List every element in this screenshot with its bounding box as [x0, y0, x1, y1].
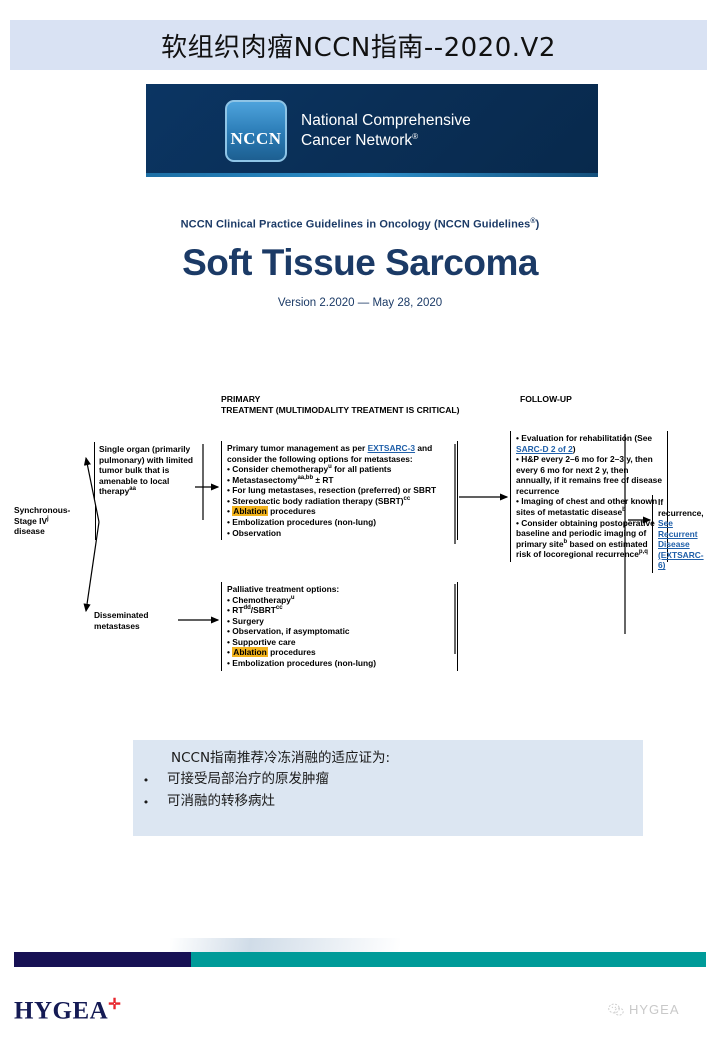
- box-palliative-treatment: Palliative treatment options: • Chemothe…: [221, 582, 458, 671]
- primary-bullet-text: Metastasectomy: [232, 475, 297, 485]
- nccn-banner-text: National Comprehensive Cancer Network®: [301, 111, 471, 150]
- followup-bullet-text: Evaluation for rehabilitation (See: [521, 433, 652, 443]
- footer-color-bar: [14, 952, 706, 967]
- recurrence-lead: If recurrence,: [658, 497, 709, 518]
- primary-bullet-text: Observation: [232, 528, 281, 538]
- brand-logo-hygea: HYGEA✛: [14, 995, 121, 1025]
- stage-line2: Stage IV: [14, 516, 47, 526]
- palliative-bullet-text: RT: [232, 605, 243, 615]
- highlight-ablation: Ablation: [232, 506, 268, 516]
- nccn-logo-icon: NCCN: [225, 100, 287, 162]
- guideline-main-title: Soft Tissue Sarcoma: [0, 242, 720, 284]
- followup-bullet: • Consider obtaining postoperative basel…: [516, 518, 662, 560]
- note-item-text: 可接受局部治疗的原发肿瘤: [167, 773, 329, 787]
- primary-bullet: • Stereotactic body radiation therapy (S…: [227, 496, 452, 507]
- palliative-bullet: • Chemotherapyu: [227, 595, 452, 606]
- node-synchronous-stage-iv: Synchronous- Stage IVj disease: [14, 505, 92, 537]
- followup-bullet-post: ): [573, 444, 576, 454]
- primary-bullet: • Metastasectomyaa,bb ± RT: [227, 475, 452, 486]
- primary-bullet-ablation: • Ablation procedures: [227, 506, 452, 517]
- box-followup: • Evaluation for rehabilitation (See SAR…: [510, 431, 668, 562]
- footer-bar-navy-segment: [14, 952, 191, 967]
- palliative-bullet-text: Embolization procedures (non-lung): [232, 658, 376, 668]
- red-cross-icon: ✛: [108, 996, 121, 1013]
- palliative-bullet-sup: dd: [243, 605, 250, 611]
- note-item-text: 可消融的转移病灶: [167, 795, 275, 809]
- nccn-banner-line2-wrap: Cancer Network®: [301, 131, 471, 151]
- box-primary-treatment: Primary tumor management as per EXTSARC-…: [221, 441, 458, 540]
- stage-bracket: [95, 504, 96, 540]
- primary-bullet-text: Embolization procedures (non-lung): [232, 517, 376, 527]
- annotation-note-box: NCCN指南推荐冷冻消融的适应证为: • 可接受局部治疗的原发肿瘤 • 可消融的…: [133, 740, 643, 836]
- node-disseminated-metastases: Disseminated metastases: [94, 610, 186, 631]
- nccn-banner-line2: Cancer Network: [301, 132, 412, 149]
- highlight-ablation: Ablation: [232, 647, 268, 657]
- followup-bullet-post-sup: p,q: [639, 550, 648, 556]
- nccn-logo-banner: NCCN National Comprehensive Cancer Netwo…: [146, 84, 598, 177]
- single-organ-text: Single organ (primarily pulmonary) with …: [99, 444, 193, 496]
- followup-bullet: • Evaluation for rehabilitation (See SAR…: [516, 433, 662, 454]
- followup-bullet-text: H&P every 2–6 mo for 2–3 y, then every 6…: [516, 454, 662, 496]
- footer-smudge-artifact: [170, 938, 400, 952]
- palliative-bullet-ablation: • Ablation procedures: [227, 647, 452, 658]
- primary-bullet: • For lung metastases, resection (prefer…: [227, 485, 452, 496]
- guideline-version: Version 2.2020 — May 28, 2020: [0, 297, 720, 309]
- primary-bullet-text: Stereotactic body radiation therapy (SBR…: [232, 496, 403, 506]
- wechat-watermark-label: HYGEA: [629, 1002, 680, 1017]
- followup-bullet-sup: b: [622, 507, 626, 513]
- primary-bullet-tail: for all patients: [332, 464, 392, 474]
- palliative-bullet-text: Chemotherapy: [232, 595, 291, 605]
- nccn-banner-line1: National Comprehensive: [301, 111, 471, 131]
- kicker-prefix: NCCN Clinical Practice Guidelines in Onc…: [181, 219, 531, 231]
- palliative-bullet-text: Supportive care: [232, 637, 295, 647]
- primary-bullet-list: • Consider chemotherapyu for all patient…: [227, 464, 452, 538]
- guideline-kicker: NCCN Clinical Practice Guidelines in Onc…: [0, 218, 720, 231]
- primary-bullet-tail: procedures: [268, 506, 316, 516]
- brand-logo-text: HYGEA: [14, 997, 108, 1024]
- treatment-flowchart: PRIMARY TREATMENT (MULTIMODALITY TREATME…: [0, 392, 720, 682]
- link-recurrent-line-1[interactable]: See: [658, 518, 709, 529]
- primary-bullet: • Consider chemotherapyu for all patient…: [227, 464, 452, 475]
- palliative-bullet: • Surgery: [227, 616, 452, 627]
- palliative-bullet-text: Surgery: [232, 616, 264, 626]
- wechat-icon: [608, 1003, 624, 1017]
- slide-title-bar: 软组织肉瘤NCCN指南--2020.V2: [10, 20, 707, 70]
- link-sarc-d-2of2[interactable]: SARC-D 2 of 2: [516, 444, 573, 454]
- bullet-marker-icon: •: [133, 795, 159, 810]
- palliative-bullet-text: Observation, if asymptomatic: [232, 626, 349, 636]
- link-extsarc-3[interactable]: EXTSARC-3: [368, 443, 415, 453]
- primary-bullet: • Observation: [227, 528, 452, 539]
- note-list-item: • 可消融的转移病灶: [133, 795, 643, 810]
- primary-bullet: • Embolization procedures (non-lung): [227, 517, 452, 528]
- primary-intro: Primary tumor management as per EXTSARC-…: [227, 443, 452, 464]
- followup-bullet: • H&P every 2–6 mo for 2–3 y, then every…: [516, 454, 662, 496]
- palliative-bullet-tail: /SBRT: [251, 605, 276, 615]
- column-header-followup: FOLLOW-UP: [520, 394, 572, 405]
- link-recurrent-line-3[interactable]: Disease: [658, 539, 709, 550]
- note-heading: NCCN指南推荐冷冻消融的适应证为:: [171, 752, 643, 766]
- page-title: 软组织肉瘤NCCN指南--2020.V2: [161, 27, 556, 64]
- palliative-bullet: • Supportive care: [227, 637, 452, 648]
- nccn-logo-text: NCCN: [230, 129, 281, 149]
- primary-bullet-tail: ± RT: [313, 475, 333, 485]
- kicker-suffix: ): [536, 219, 540, 231]
- palliative-bullet-sup: u: [291, 595, 295, 601]
- palliative-intro: Palliative treatment options:: [227, 584, 452, 595]
- palliative-bullet-tail-sup: cc: [276, 605, 283, 611]
- link-recurrent-line-2[interactable]: Recurrent: [658, 529, 709, 540]
- primary-header-line1: PRIMARY: [221, 394, 460, 405]
- column-header-primary-treatment: PRIMARY TREATMENT (MULTIMODALITY TREATME…: [221, 394, 460, 416]
- bullet-marker-icon: •: [133, 773, 159, 788]
- followup-bullet-text: Imaging of chest and other known sites o…: [516, 496, 657, 517]
- note-list-item: • 可接受局部治疗的原发肿瘤: [133, 773, 643, 788]
- palliative-bullet: • Observation, if asymptomatic: [227, 626, 452, 637]
- primary-bullet-text: Consider chemotherapy: [232, 464, 328, 474]
- primary-bullet-text: For lung metastases, resection (preferre…: [232, 485, 436, 495]
- stage-line3: disease: [14, 526, 92, 537]
- single-organ-sup: aa: [129, 487, 136, 493]
- link-recurrent-line-4[interactable]: (EXTSARC-6): [658, 550, 709, 571]
- stage-line2-sup: j: [47, 516, 49, 522]
- palliative-bullet: • RTdd/SBRTcc: [227, 605, 452, 616]
- followup-bullet: • Imaging of chest and other known sites…: [516, 496, 662, 517]
- primary-bullet-sup: cc: [404, 496, 411, 502]
- primary-intro-part1: Primary tumor management as per: [227, 443, 368, 453]
- document-title-block: NCCN Clinical Practice Guidelines in Onc…: [0, 218, 720, 309]
- palliative-bullet-tail: procedures: [268, 647, 316, 657]
- stage-line1: Synchronous-: [14, 505, 92, 516]
- registered-mark: ®: [412, 131, 418, 140]
- wechat-watermark: HYGEA: [608, 1002, 680, 1017]
- slide-page: 软组织肉瘤NCCN指南--2020.V2 NCCN National Compr…: [0, 0, 720, 1040]
- palliative-bullet: • Embolization procedures (non-lung): [227, 658, 452, 669]
- node-single-organ: Single organ (primarily pulmonary) with …: [94, 442, 206, 499]
- stage-line2-wrap: Stage IVj: [14, 516, 92, 527]
- primary-header-line2: TREATMENT (MULTIMODALITY TREATMENT IS CR…: [221, 405, 460, 416]
- primary-bullet-sup: aa,bb: [297, 475, 313, 481]
- footer-bar-teal-segment: [191, 952, 706, 967]
- box-recurrence: If recurrence, See Recurrent Disease (EX…: [652, 495, 714, 573]
- palliative-bullet-list: • Chemotherapyu • RTdd/SBRTcc • Surgery …: [227, 595, 452, 669]
